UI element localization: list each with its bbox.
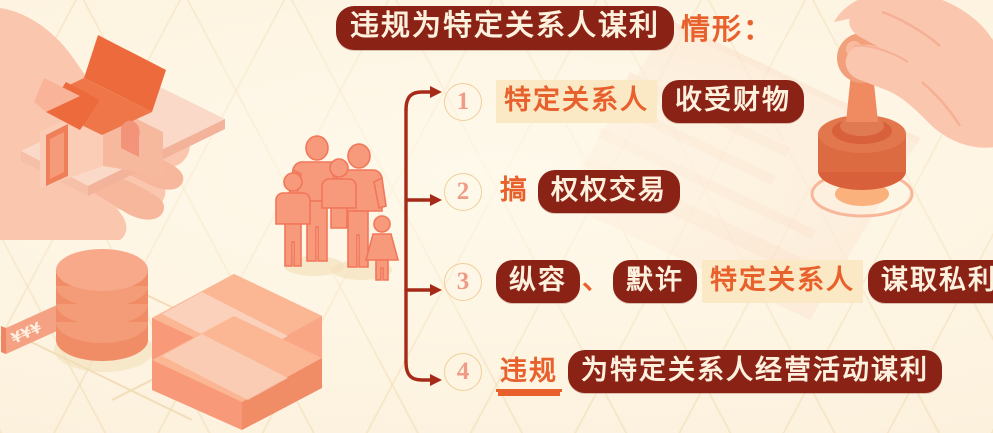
item-segment-dark: 权权交易 [538,170,680,213]
item-number-badge: 1 [444,83,482,121]
title-badge: 违规为特定关系人谋利 [336,6,674,50]
bracket-connector [392,86,448,386]
item-number-badge: 2 [444,173,482,211]
list-item: 2 搞 权权交易 [444,170,680,213]
money-sign-label: ¥¥¥ [8,318,44,347]
item-segment-highlight: 特定关系人 [496,80,657,123]
item-segment-highlight: 特定关系人 [702,260,863,303]
infographic-canvas: ¥¥¥ [0,0,993,433]
item-segment-dark: 为特定关系人经营活动谋利 [568,350,942,393]
page-title: 违规为特定关系人谋利 情形： [336,6,774,50]
hand-with-stamp-illustration [790,0,993,256]
list-item: 1 特定关系人 收受财物 [444,80,804,123]
family-group-illustration [262,108,412,288]
hand-holding-house-illustration [0,0,263,240]
item-number-badge: 4 [444,353,482,391]
title-tail: 情形： [681,6,774,50]
list-item: 3 纵容 、 默许 特定关系人 谋取私利 [444,260,993,303]
item-segment-plain: 搞 [496,170,533,213]
item-segment-separator: 、 [580,260,613,303]
money-and-coins-illustration: ¥¥¥ [0,230,322,430]
item-segment-dark: 谋取私利 [868,260,993,303]
item-segment-underlined: 违规 [496,351,562,392]
item-segment-dark: 纵容 [496,260,580,303]
item-segment-dark: 默许 [613,260,697,303]
item-segment-dark: 收受财物 [662,80,804,123]
list-item: 4 违规 为特定关系人经营活动谋利 [444,350,942,393]
item-number-badge: 3 [444,263,482,301]
